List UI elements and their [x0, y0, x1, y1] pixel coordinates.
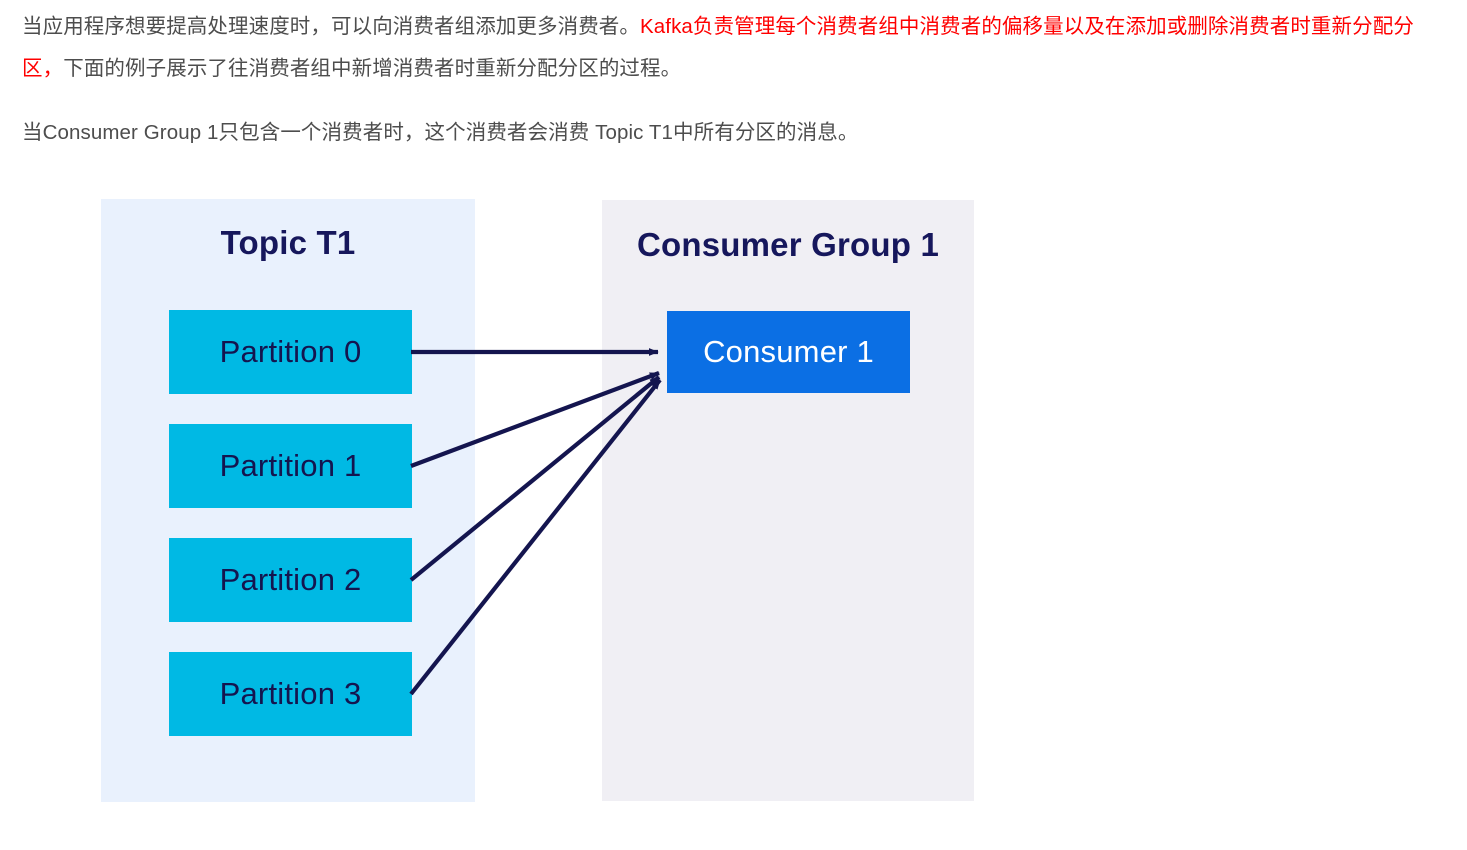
paragraph-scaling: 当应用程序想要提高处理速度时，可以向消费者组添加更多消费者。Kafka负责管理每…: [22, 6, 1454, 90]
consumer-label-1: Consumer 1: [703, 334, 874, 370]
paragraph-segment-single: 当Consumer Group 1只包含一个消费者时，这个消费者会消费 Topi…: [22, 121, 858, 144]
paragraph-segment-normal: 当应用程序想要提高处理速度时，可以向消费者组添加更多消费者。: [22, 15, 640, 38]
topic-panel-title: Topic T1: [101, 224, 475, 262]
partition-label-2: Partition 2: [220, 562, 362, 598]
topic-panel: Topic T1 Partition 0 Partition 1 Partiti…: [101, 199, 475, 802]
paragraph-segment-normal-tail: 下面的例子展示了往消费者组中新增消费者时重新分配分区的过程。: [63, 57, 681, 80]
partition-label-1: Partition 1: [220, 448, 362, 484]
partition-box-2[interactable]: Partition 2: [169, 538, 412, 622]
article-text: 当应用程序想要提高处理速度时，可以向消费者组添加更多消费者。Kafka负责管理每…: [22, 6, 1454, 154]
partition-box-3[interactable]: Partition 3: [169, 652, 412, 736]
partition-label-0: Partition 0: [220, 334, 362, 370]
partition-box-0[interactable]: Partition 0: [169, 310, 412, 394]
partition-box-1[interactable]: Partition 1: [169, 424, 412, 508]
partition-label-3: Partition 3: [220, 676, 362, 712]
consumer-group-panel-title: Consumer Group 1: [602, 226, 974, 264]
consumer-group-panel: Consumer Group 1 Consumer 1: [602, 200, 974, 801]
paragraph-segment-highlight-comma: ，: [43, 57, 64, 80]
consumer-box-1[interactable]: Consumer 1: [667, 311, 910, 393]
paragraph-single-consumer: 当Consumer Group 1只包含一个消费者时，这个消费者会消费 Topi…: [22, 112, 1454, 154]
